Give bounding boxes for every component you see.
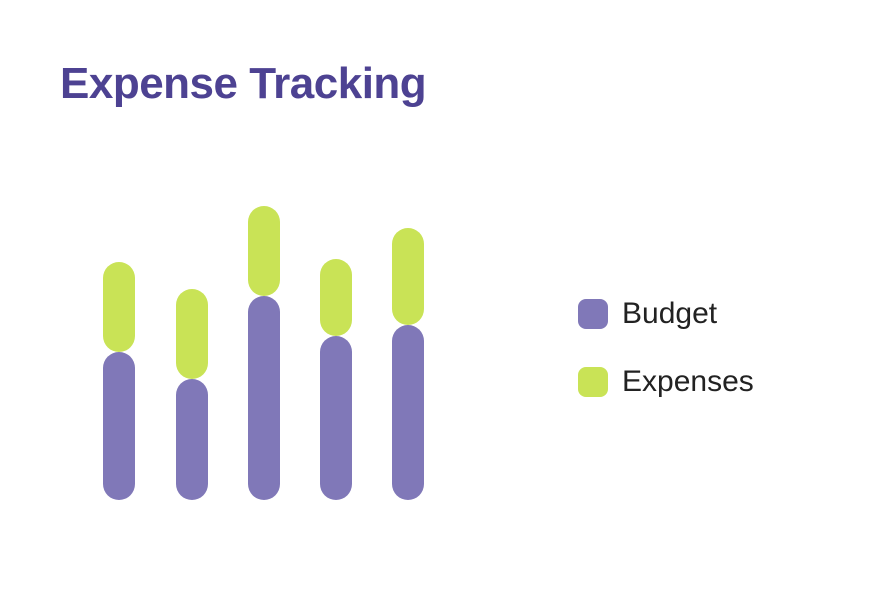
bar-segment-expenses[interactable] <box>176 289 208 379</box>
bar-stack[interactable] <box>176 289 208 500</box>
bar-stack[interactable] <box>103 262 135 500</box>
legend-swatch-expenses <box>578 367 608 397</box>
legend-swatch-budget <box>578 299 608 329</box>
bar-segment-budget[interactable] <box>392 325 424 500</box>
legend-label-budget: Budget <box>622 299 717 329</box>
chart-legend: Budget Expenses <box>578 299 754 435</box>
bar-segment-budget[interactable] <box>248 296 280 500</box>
chart-card: Expense Tracking <box>0 0 876 596</box>
bar-segment-budget[interactable] <box>103 352 135 500</box>
legend-item-expenses[interactable]: Expenses <box>578 367 754 397</box>
bar-segment-budget[interactable] <box>176 379 208 500</box>
bar-segment-expenses[interactable] <box>248 206 280 296</box>
bar-segment-expenses[interactable] <box>392 228 424 325</box>
page-title: Expense Tracking <box>60 62 426 106</box>
legend-label-expenses: Expenses <box>622 367 754 397</box>
bar-stack[interactable] <box>248 206 280 500</box>
bar-segment-expenses[interactable] <box>320 259 352 336</box>
bar-stack[interactable] <box>392 228 424 500</box>
bar-segment-budget[interactable] <box>320 336 352 500</box>
legend-item-budget[interactable]: Budget <box>578 299 754 329</box>
bar-stack[interactable] <box>320 259 352 500</box>
bar-segment-expenses[interactable] <box>103 262 135 352</box>
chart-plot-area <box>103 190 463 500</box>
